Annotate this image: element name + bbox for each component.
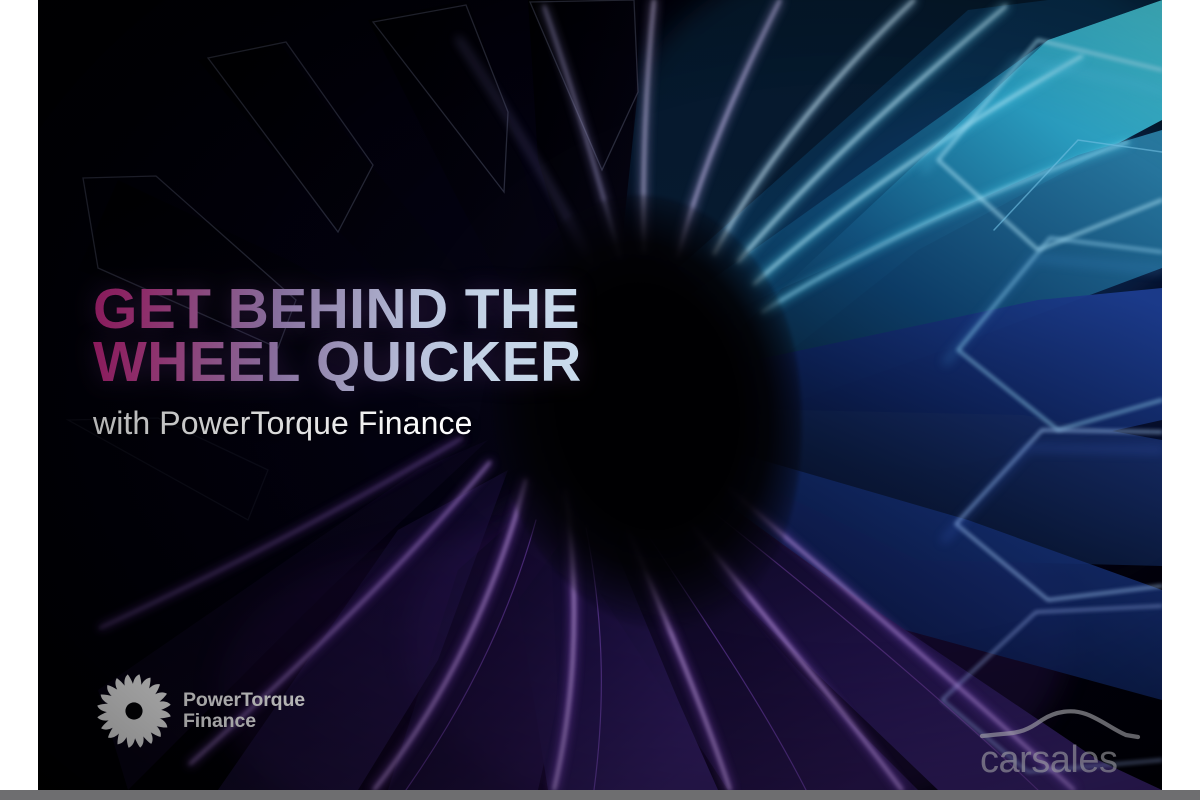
logo-wordmark: PowerTorque Finance <box>183 691 305 731</box>
bottom-strip <box>0 790 1200 800</box>
banner-creative[interactable]: GET BEHIND THE WHEEL QUICKER with PowerT… <box>38 0 1162 790</box>
logo-line-1: PowerTorque <box>183 691 305 711</box>
carsales-wordmark: carsales <box>980 739 1118 778</box>
headline-line-2: WHEEL QUICKER <box>93 335 582 390</box>
logo-line-2: Finance <box>183 712 305 732</box>
page-root: GET BEHIND THE WHEEL QUICKER with PowerT… <box>0 0 1200 800</box>
headline-line-1: GET BEHIND THE <box>93 282 582 337</box>
carsales-watermark: carsales <box>976 706 1144 778</box>
copy-block: GET BEHIND THE WHEEL QUICKER with PowerT… <box>93 282 582 442</box>
powertorque-finance-logo[interactable]: PowerTorque Finance <box>95 672 305 750</box>
subheadline: with PowerTorque Finance <box>93 405 582 442</box>
turbine-swirl-icon <box>95 672 173 750</box>
